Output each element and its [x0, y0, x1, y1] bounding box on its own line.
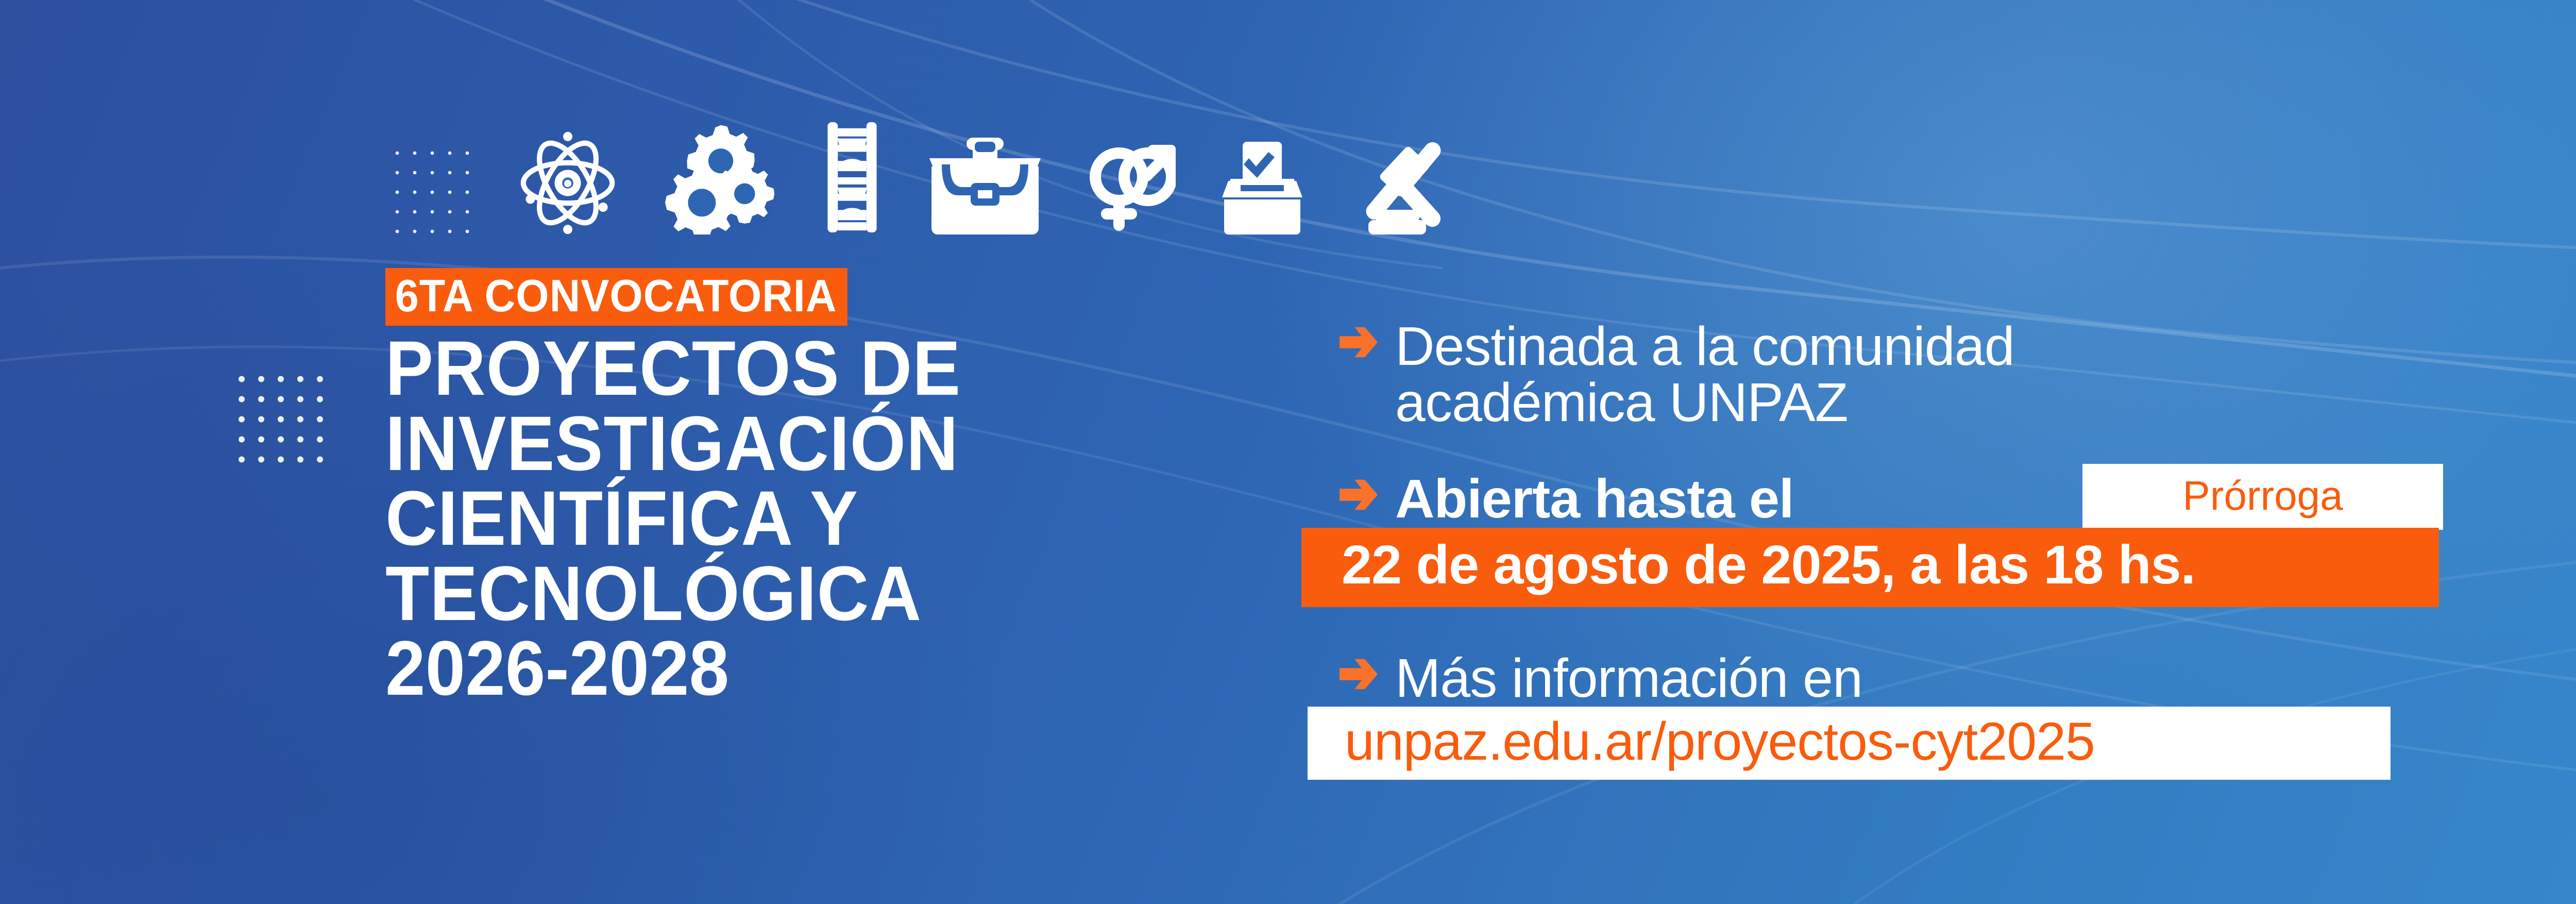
kicker-badge: 6TA CONVOCATORIA: [385, 268, 848, 326]
gender-symbols-icon: [1089, 130, 1176, 237]
dot-grid-decoration: [230, 367, 331, 473]
bullet-audience-line-2: académica UNPAZ: [1395, 375, 2524, 431]
dna-icon: [823, 120, 881, 237]
deadline-date: 22 de agosto de 2025, a las 18 hs.: [1342, 536, 2439, 594]
bullet-audience-line-1: Destinada a la comunidad: [1395, 319, 2524, 375]
promo-banner: 6TA CONVOCATORIA PROYECTOS DE INVESTIGAC…: [0, 0, 2576, 904]
bullet-more-info: Más información en unpaz.edu.ar/proyecto…: [1340, 650, 2524, 780]
headline-line-4: TECNOLÓGICA: [385, 556, 1162, 631]
gavel-icon: [1356, 131, 1459, 237]
bullet-more-info-label: Más información en: [1395, 650, 2524, 707]
headline-line-3: CIENTÍFICA Y: [385, 481, 1162, 556]
arrow-right-icon: [1340, 478, 1380, 511]
details-block: Destinada a la comunidad académica UNPAZ…: [1340, 319, 2524, 780]
dot-grid-icon: [385, 140, 473, 237]
page-title: PROYECTOS DE INVESTIGACIÓN CIENTÍFICA Y …: [385, 331, 1162, 706]
headline-line-5: 2026-2028: [385, 631, 1162, 706]
gears-icon: [663, 123, 779, 237]
briefcase-icon: [925, 136, 1045, 237]
headline-line-2: INVESTIGACIÓN: [385, 406, 1162, 481]
bullet-audience: Destinada a la comunidad académica UNPAZ: [1340, 319, 2524, 431]
website-url-bar[interactable]: unpaz.edu.ar/proyectos-cyt2025: [1308, 707, 2391, 780]
deadline-highlight: 22 de agosto de 2025, a las 18 hs.: [1301, 528, 2439, 607]
atom-icon: [517, 131, 618, 237]
topic-icon-row: [385, 120, 1459, 237]
headline-line-1: PROYECTOS DE: [385, 331, 1162, 406]
headline-block: 6TA CONVOCATORIA PROYECTOS DE INVESTIGAC…: [385, 268, 1220, 706]
website-url[interactable]: unpaz.edu.ar/proyectos-cyt2025: [1345, 713, 2391, 771]
ballot-box-icon: [1220, 138, 1312, 237]
arrow-right-icon: [1340, 658, 1380, 691]
status-badge: Prórroga: [2082, 464, 2443, 530]
bullet-deadline: Abierta hasta el Prórroga 22 de agosto d…: [1340, 471, 2524, 607]
arrow-right-icon: [1340, 326, 1380, 359]
